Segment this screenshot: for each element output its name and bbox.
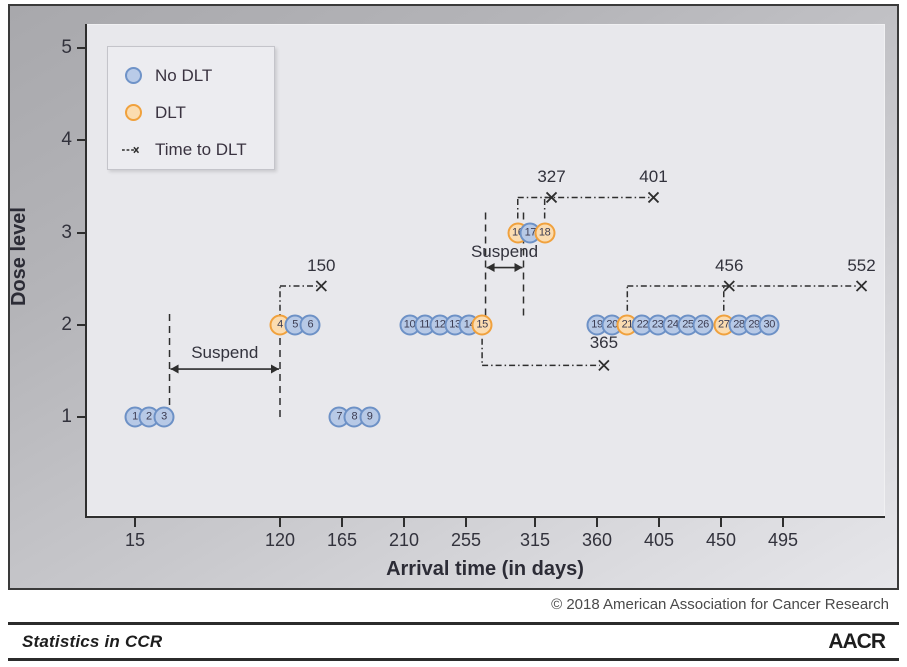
x-tick-mark	[403, 518, 405, 527]
legend-label-dlt: DLT	[155, 103, 186, 123]
x-axis-label: Arrival time (in days)	[85, 558, 885, 581]
x-tick-label: 450	[706, 530, 736, 551]
y-tick-label: 5	[61, 37, 72, 59]
x-tick-label: 405	[644, 530, 674, 551]
x-tick-label: 120	[265, 530, 295, 551]
y-tick-label: 3	[61, 222, 72, 244]
legend-label-time-to-dlt: Time to DLT	[155, 140, 247, 160]
y-tick-label: 4	[61, 129, 72, 151]
dashdot-arrow-icon	[122, 144, 144, 156]
y-axis-label: Dose level	[8, 207, 31, 306]
x-tick-label: 210	[389, 530, 419, 551]
legend-item-dlt: DLT	[122, 94, 274, 131]
legend-label-no-dlt: No DLT	[155, 66, 212, 86]
x-tick-mark	[279, 518, 281, 527]
patient-point-6[interactable]: 6	[300, 314, 321, 335]
copyright-notice: © 2018 American Association for Cancer R…	[551, 596, 889, 613]
dlt-time-label: 456	[715, 256, 743, 276]
patient-point-9[interactable]: 9	[359, 407, 380, 428]
legend-item-no-dlt: No DLT	[122, 57, 274, 94]
x-tick-mark	[782, 518, 784, 527]
y-axis-line	[85, 24, 87, 516]
x-tick-label: 315	[520, 530, 550, 551]
dlt-time-label: 327	[537, 167, 565, 187]
x-tick-label: 15	[125, 530, 145, 551]
suspend-label: Suspend	[191, 343, 258, 363]
x-tick-mark	[534, 518, 536, 527]
y-tick-label: 2	[61, 314, 72, 336]
dlt-time-label: 552	[847, 256, 875, 276]
dlt-time-label: 150	[307, 256, 335, 276]
dlt-time-label: 365	[590, 333, 618, 353]
y-tick-mark	[77, 416, 85, 418]
x-tick-label: 360	[582, 530, 612, 551]
suspend-label: Suspend	[471, 242, 538, 262]
x-tick-label: 255	[451, 530, 481, 551]
x-tick-mark	[134, 518, 136, 527]
x-tick-mark	[341, 518, 343, 527]
y-tick-mark	[77, 139, 85, 141]
y-tick-mark	[77, 232, 85, 234]
dlt-time-label: 401	[639, 167, 667, 187]
x-tick-mark	[658, 518, 660, 527]
patient-point-15[interactable]: 15	[472, 314, 493, 335]
x-tick-mark	[465, 518, 467, 527]
x-tick-mark	[720, 518, 722, 527]
chart-panel: 12345 15120165210255315360405450495 Dose…	[8, 4, 899, 590]
patient-point-30[interactable]: 30	[759, 314, 780, 335]
dlt-circle-icon	[122, 104, 144, 121]
patient-point-18[interactable]: 18	[534, 222, 555, 243]
footer-bar: Statistics in CCR AACR	[8, 622, 899, 661]
x-tick-label: 165	[327, 530, 357, 551]
patient-point-26[interactable]: 26	[693, 314, 714, 335]
figure-container: 12345 15120165210255315360405450495 Dose…	[0, 0, 907, 667]
no-dlt-circle-icon	[122, 67, 144, 84]
patient-point-3[interactable]: 3	[154, 407, 175, 428]
x-tick-label: 495	[768, 530, 798, 551]
legend-item-time-to-dlt: Time to DLT	[122, 131, 274, 168]
y-tick-mark	[77, 324, 85, 326]
y-tick-mark	[77, 47, 85, 49]
x-axis-line	[85, 516, 885, 518]
aacr-logo: AACR	[828, 630, 885, 654]
journal-name: Statistics in CCR	[22, 632, 162, 652]
legend: No DLT DLT Time to DLT	[107, 46, 275, 170]
y-tick-label: 1	[61, 406, 72, 428]
x-tick-mark	[596, 518, 598, 527]
